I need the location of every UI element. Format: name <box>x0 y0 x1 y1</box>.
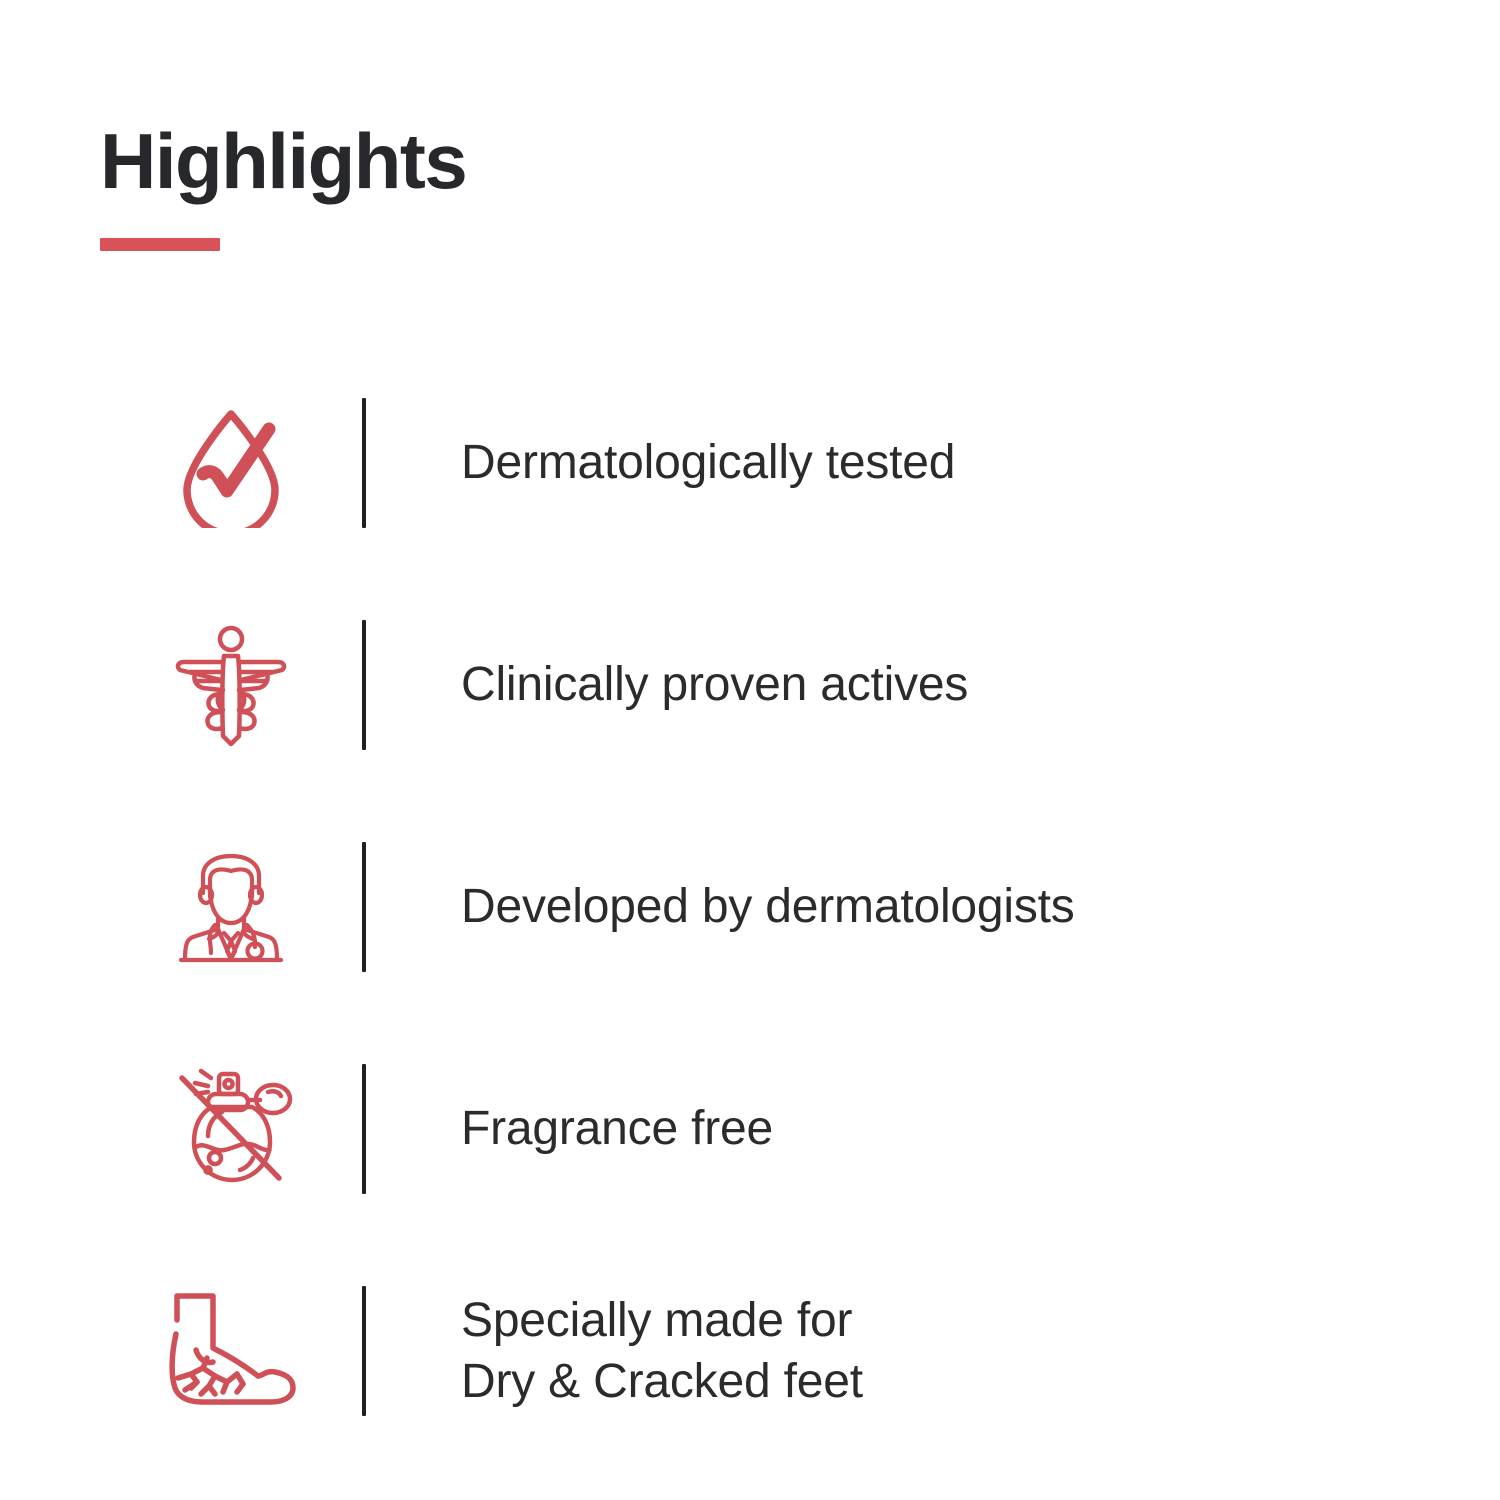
title-accent-rule <box>100 238 220 251</box>
page-title: Highlights <box>100 122 1000 200</box>
icon-cell <box>100 620 362 750</box>
dermatologist-doctor-icon <box>171 847 291 967</box>
icon-cell <box>100 398 362 528</box>
highlights-page: Highlights Dermatologically tested <box>0 0 1500 1500</box>
caduceus-icon <box>166 620 296 750</box>
highlight-label: Clinically proven actives <box>366 654 968 715</box>
list-item: Developed by dermatologists <box>100 796 1430 1018</box>
list-item: Fragrance free <box>100 1018 1430 1240</box>
water-drop-check-icon <box>172 398 290 528</box>
icon-cell <box>100 847 362 967</box>
icon-cell <box>100 1290 362 1412</box>
highlights-list: Dermatologically tested <box>100 352 1430 1462</box>
highlight-label: Specially made for Dry & Cracked feet <box>366 1290 863 1413</box>
page-header: Highlights <box>100 122 1000 251</box>
highlight-label: Developed by dermatologists <box>366 876 1075 937</box>
list-item: Clinically proven actives <box>100 574 1430 796</box>
list-item: Dermatologically tested <box>100 352 1430 574</box>
highlight-label: Fragrance free <box>366 1098 773 1159</box>
no-fragrance-perfume-icon <box>168 1066 294 1192</box>
list-item: Specially made for Dry & Cracked feet <box>100 1240 1430 1462</box>
highlight-label: Dermatologically tested <box>366 432 955 493</box>
icon-cell <box>100 1066 362 1192</box>
cracked-foot-icon <box>163 1290 299 1412</box>
